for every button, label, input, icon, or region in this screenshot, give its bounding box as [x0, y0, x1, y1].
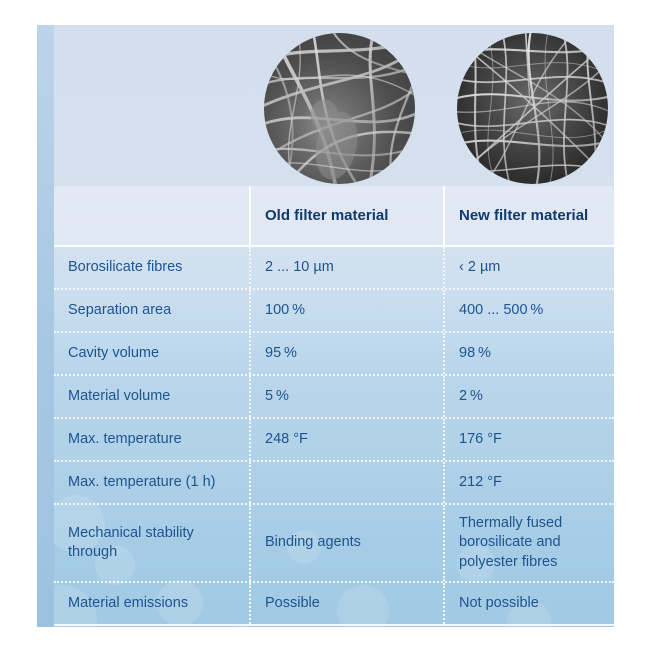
- cell-new-value: 98 %: [443, 333, 614, 374]
- cell-old-value: [249, 462, 443, 503]
- table-row: Max. temperature 248 °F 176 °F: [54, 417, 614, 460]
- column-header-property: [54, 186, 249, 245]
- cell-new-value: 2 %: [443, 376, 614, 417]
- cell-old-value: 248 °F: [249, 419, 443, 460]
- row-label: Material volume: [54, 376, 249, 417]
- row-label: Borosilicate fibres: [54, 247, 249, 288]
- cell-new-value: Thermally fused borosilicate and polyest…: [443, 505, 614, 581]
- column-header-new-filter-material: New filter material: [443, 186, 614, 245]
- table-row: Material volume 5 % 2 %: [54, 374, 614, 417]
- table-row: Mechanical stability through Binding age…: [54, 503, 614, 581]
- cell-old-value: 100 %: [249, 290, 443, 331]
- cell-old-value: Binding agents: [249, 505, 443, 581]
- table-row: Material emissions Possible Not possible: [54, 581, 614, 626]
- table-row: Separation area 100 % 400 ... 500 %: [54, 288, 614, 331]
- row-label: Separation area: [54, 290, 249, 331]
- cell-new-value: 400 ... 500 %: [443, 290, 614, 331]
- cell-new-value: 212 °F: [443, 462, 614, 503]
- fibre-texture-icon: [264, 33, 415, 184]
- row-label: Max. temperature (1 h): [54, 462, 249, 503]
- fibre-texture-icon: [457, 33, 608, 184]
- cell-old-value: 2 ... 10 µm: [249, 247, 443, 288]
- cell-old-value: 5 %: [249, 376, 443, 417]
- row-label: Max. temperature: [54, 419, 249, 460]
- column-header-old-filter-material: Old filter material: [249, 186, 443, 245]
- cell-old-value: 95 %: [249, 333, 443, 374]
- row-label: Cavity volume: [54, 333, 249, 374]
- table-row: Cavity volume 95 % 98 %: [54, 331, 614, 374]
- table-row: Borosilicate fibres 2 ... 10 µm ‹ 2 µm: [54, 247, 614, 288]
- table-header-row: Old filter material New filter material: [54, 186, 614, 247]
- panel-left-accent-strip: [37, 25, 54, 627]
- table-row: Max. temperature (1 h) 212 °F: [54, 460, 614, 503]
- cell-new-value: Not possible: [443, 583, 614, 624]
- figure-root: Old filter material New filter material …: [0, 0, 650, 650]
- row-label: Material emissions: [54, 583, 249, 624]
- cell-old-value: Possible: [249, 583, 443, 624]
- filter-material-comparison-table: Old filter material New filter material …: [54, 186, 614, 626]
- new-filter-material-sem-image: [457, 33, 608, 184]
- old-filter-material-sem-image: [264, 33, 415, 184]
- comparison-panel: Old filter material New filter material …: [37, 25, 614, 627]
- cell-new-value: ‹ 2 µm: [443, 247, 614, 288]
- cell-new-value: 176 °F: [443, 419, 614, 460]
- row-label: Mechanical stability through: [54, 505, 249, 581]
